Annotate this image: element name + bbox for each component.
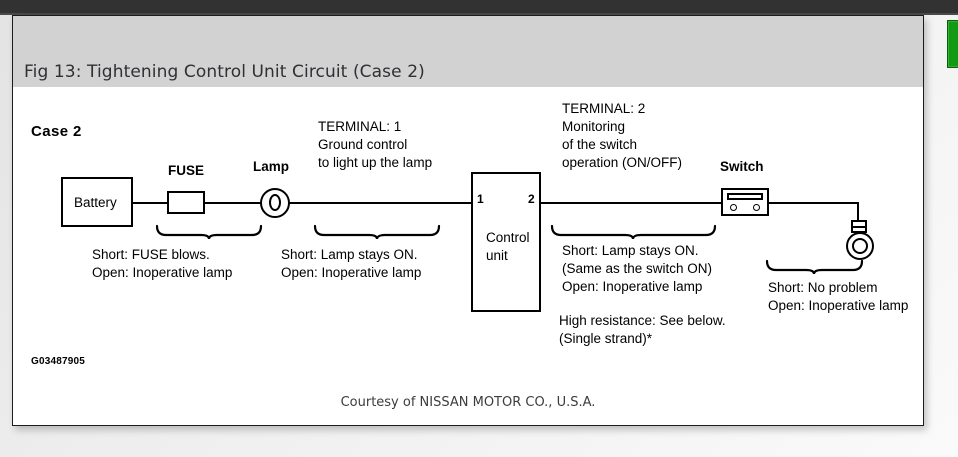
green-marker-indicator[interactable]	[947, 20, 958, 68]
switch-terminal-right	[753, 204, 760, 211]
control-unit-pin-1: 1	[477, 192, 484, 206]
case-label: Case 2	[31, 123, 82, 140]
control-unit-label-line1: Control	[486, 230, 530, 245]
switch-icon	[721, 188, 769, 216]
note-fuse-short: Short: FUSE blows.	[92, 246, 210, 263]
lamp-filament	[269, 194, 281, 211]
note-switch-same: (Same as the switch ON)	[562, 260, 712, 277]
note-switch-open: Open: Inoperative lamp	[562, 278, 702, 295]
control-unit-pin-2: 2	[528, 192, 535, 206]
ground-inner-circle	[852, 238, 868, 254]
note-lamp-short: Short: Lamp stays ON.	[281, 246, 418, 263]
note-ground-short: Short: No problem	[768, 279, 878, 296]
window-top-bar	[0, 0, 958, 13]
note-lamp-open: Open: Inoperative lamp	[281, 264, 421, 281]
note-fuse-open: Open: Inoperative lamp	[92, 264, 232, 281]
ground-cap-line	[851, 226, 867, 228]
wire-switch-to-ground	[767, 202, 859, 204]
control-unit-label-line2: unit	[486, 248, 508, 263]
terminal-1-line3: to light up the lamp	[318, 154, 432, 172]
terminal-1-heading: TERMINAL: 1	[318, 118, 401, 136]
fuse-box	[167, 191, 205, 214]
figure-panel: Fig 13: Tightening Control Unit Circuit …	[12, 15, 924, 426]
brace-fuse-section	[155, 224, 263, 240]
note-high-resistance-2: (Single strand)*	[559, 330, 652, 347]
figure-body: Case 2 Battery FUSE Lamp TE	[13, 87, 923, 424]
figure-title: Fig 13: Tightening Control Unit Circuit …	[24, 62, 425, 82]
courtesy-caption: Courtesy of NISSAN MOTOR CO., U.S.A.	[13, 395, 923, 410]
figure-header: Fig 13: Tightening Control Unit Circuit …	[13, 16, 923, 88]
note-high-resistance-1: High resistance: See below.	[559, 312, 726, 329]
wire-fuse-to-control-unit	[203, 202, 473, 204]
brace-terminal-2-section	[550, 224, 717, 240]
wire-control-unit-to-switch	[539, 202, 721, 204]
image-id-label: G03487905	[31, 356, 85, 367]
terminal-2-line2: Monitoring	[562, 118, 625, 136]
lamp-label: Lamp	[253, 159, 289, 174]
battery-label: Battery	[74, 195, 117, 210]
terminal-2-line3: of the switch	[562, 136, 637, 154]
ground-bolt-icon	[841, 220, 875, 262]
terminal-2-heading: TERMINAL: 2	[562, 100, 645, 118]
terminal-2-line4: operation (ON/OFF)	[562, 154, 682, 172]
circuit-diagram: Case 2 Battery FUSE Lamp TE	[13, 87, 923, 387]
switch-label: Switch	[720, 159, 764, 174]
brace-terminal-1-section	[313, 224, 441, 240]
terminal-1-line2: Ground control	[318, 136, 407, 154]
fuse-label: FUSE	[168, 163, 204, 178]
wire-battery-to-fuse	[131, 202, 169, 204]
brace-ground-section	[765, 259, 864, 275]
switch-lever	[727, 193, 763, 200]
note-switch-short: Short: Lamp stays ON.	[562, 242, 699, 259]
note-ground-open: Open: Inoperative lamp	[768, 297, 908, 314]
switch-terminal-left	[730, 204, 737, 211]
lamp-icon	[260, 188, 290, 218]
